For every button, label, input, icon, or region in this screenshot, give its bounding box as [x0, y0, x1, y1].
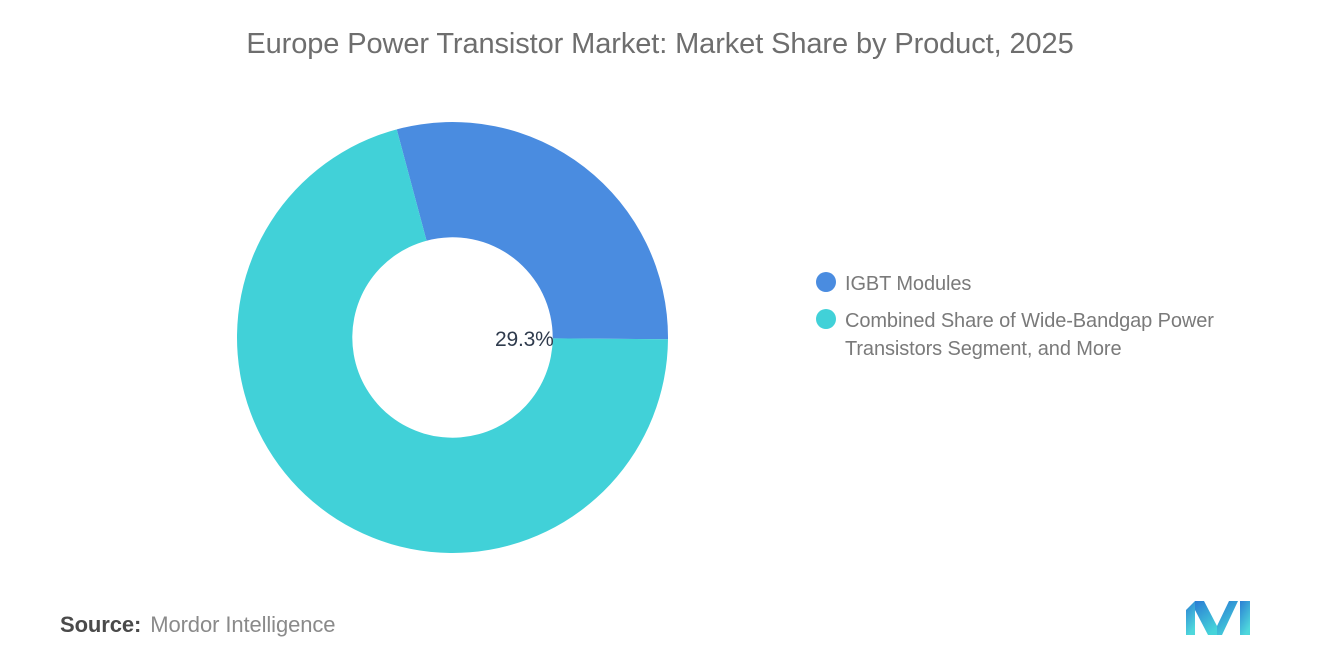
legend-swatch-igbt-modules: [816, 272, 836, 292]
legend-swatch-combined-share: [816, 309, 836, 329]
legend-label-combined-share: Combined Share of Wide-Bandgap Power Tra…: [845, 307, 1270, 363]
legend-item-combined-share[interactable]: Combined Share of Wide-Bandgap Power Tra…: [816, 307, 1286, 363]
chart-legend: IGBT Modules Combined Share of Wide-Band…: [816, 270, 1286, 372]
slice-data-label-igbt-modules: 29.3%: [495, 328, 554, 352]
chart-canvas: Europe Power Transistor Market: Market S…: [0, 0, 1320, 665]
source-footer: Source: Mordor Intelligence: [60, 612, 335, 638]
donut-chart: 29.3%: [237, 122, 668, 553]
page-title: Europe Power Transistor Market: Market S…: [0, 28, 1320, 61]
donut-chart-svg: [237, 122, 668, 553]
mordor-intelligence-logo: [1184, 599, 1252, 637]
legend-item-igbt-modules[interactable]: IGBT Modules: [816, 270, 1286, 298]
legend-label-igbt-modules: IGBT Modules: [845, 270, 971, 298]
source-label: Source:: [60, 612, 141, 638]
donut-slice[interactable]: [397, 122, 668, 339]
source-value: Mordor Intelligence: [150, 612, 335, 638]
donut-slice-group: [237, 122, 668, 553]
